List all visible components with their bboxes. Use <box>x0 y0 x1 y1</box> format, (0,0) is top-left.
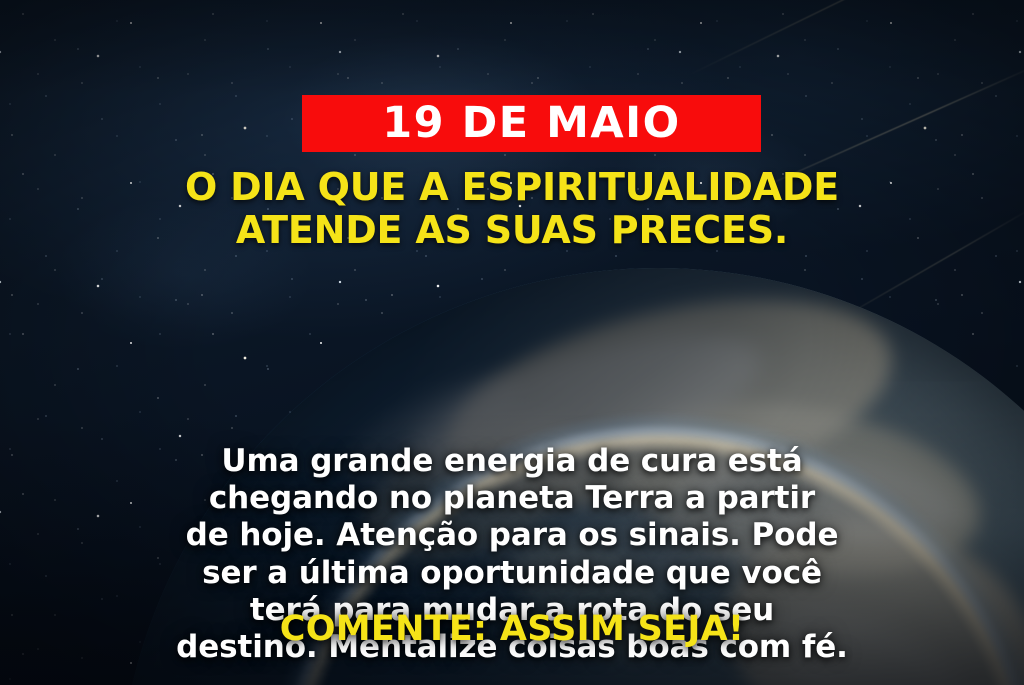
headline: O DIA QUE A ESPIRITUALIDADE ATENDE AS SU… <box>0 166 1024 251</box>
date-banner-label: 19 DE MAIO <box>382 102 680 145</box>
date-banner: 19 DE MAIO <box>302 95 761 152</box>
body-line-4: ser a última oportunidade que você <box>40 555 984 592</box>
call-to-action-text: COMENTE: ASSIM SEJA! <box>0 612 1024 647</box>
body-line-3: de hoje. Atenção para os sinais. Pode <box>40 517 984 554</box>
headline-line-1: O DIA QUE A ESPIRITUALIDADE <box>0 166 1024 209</box>
poster-content: 19 DE MAIO O DIA QUE A ESPIRITUALIDADE A… <box>0 0 1024 685</box>
body-line-2: chegando no planeta Terra a partir <box>40 480 984 517</box>
body-line-1: Uma grande energia de cura está <box>40 443 984 480</box>
headline-line-2: ATENDE AS SUAS PRECES. <box>0 209 1024 252</box>
poster-image: 19 DE MAIO O DIA QUE A ESPIRITUALIDADE A… <box>0 0 1024 685</box>
